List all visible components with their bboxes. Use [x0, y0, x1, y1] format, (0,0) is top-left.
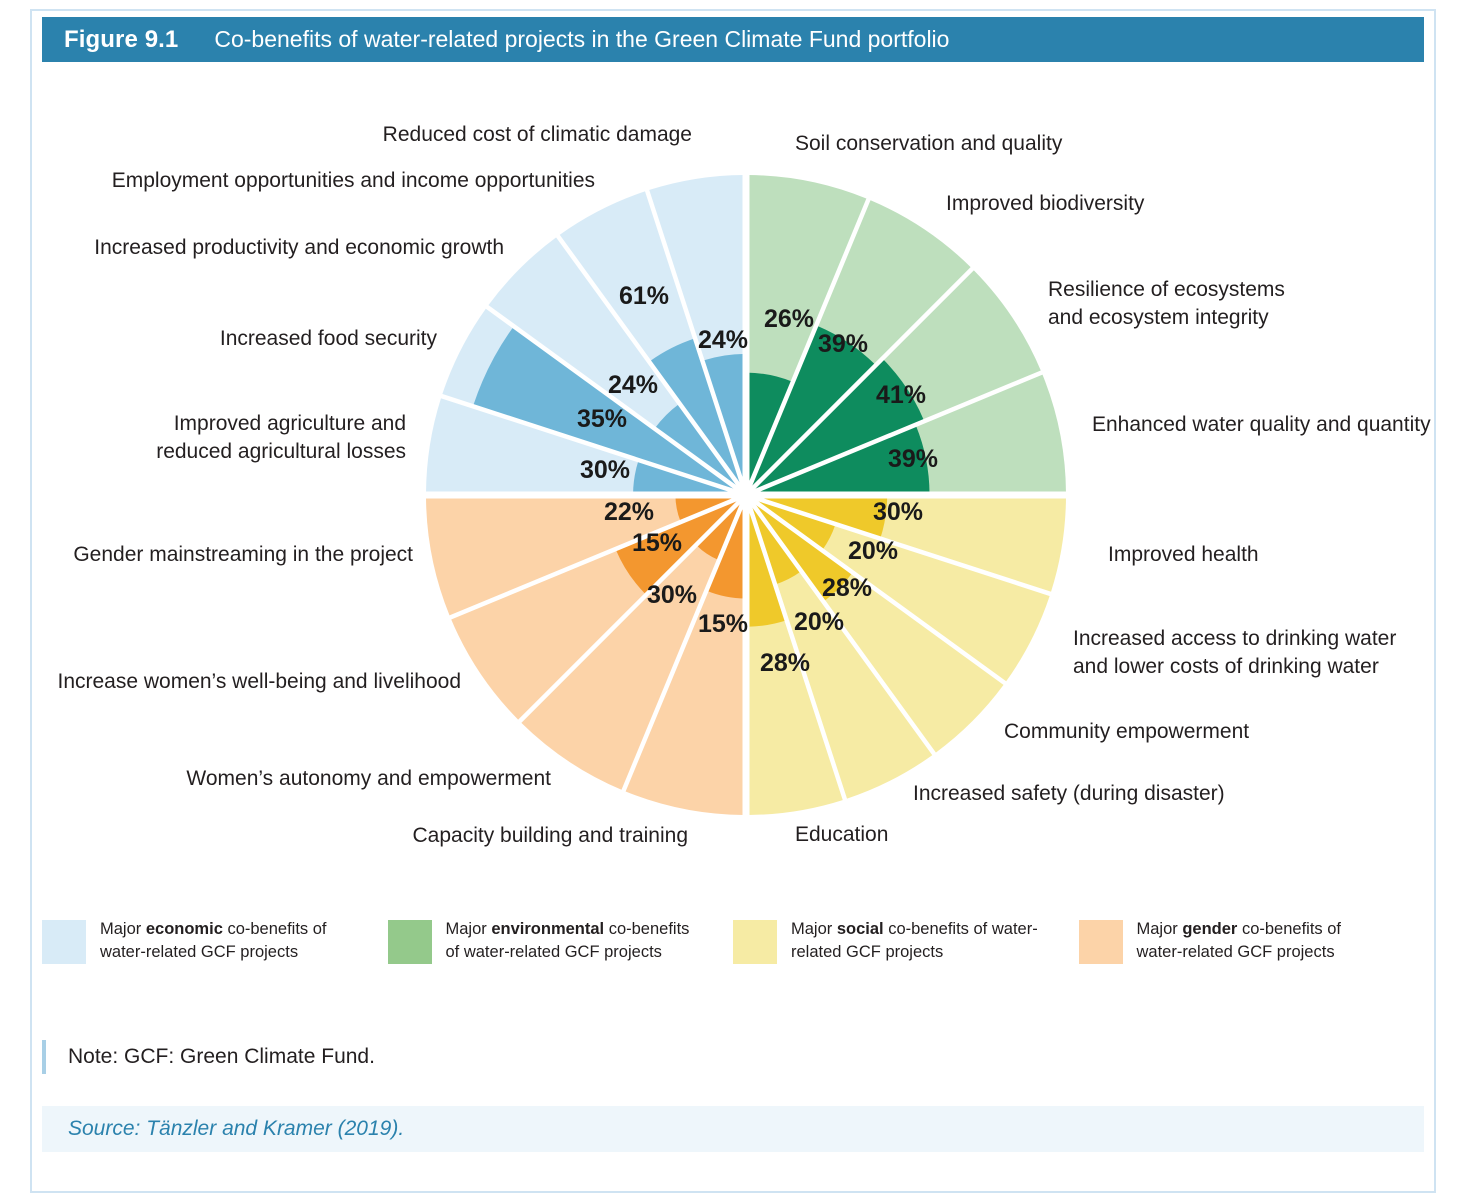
legend-item-economic: Major economic co-benefits of water-rela… — [42, 918, 388, 992]
value-label-soc-v-3: 20% — [794, 608, 844, 636]
category-label-increased-safety: Increased safety (during disaster) — [913, 782, 1225, 805]
category-label-line: Education — [795, 823, 888, 846]
value-label-econ-v-2: 24% — [608, 371, 658, 399]
legend-item-environmental: Major environmental co-benefits of water… — [388, 918, 734, 992]
category-label-line: Reduced cost of climatic damage — [383, 123, 692, 146]
source-text: Source: Tänzler and Kramer (2019). — [68, 1117, 404, 1141]
legend-swatch-gender — [1079, 920, 1123, 964]
category-label-capacity-building: Capacity building and training — [412, 824, 688, 847]
value-label-gen-v-2: 30% — [647, 581, 697, 609]
legend-swatch-economic — [42, 920, 86, 964]
value-label-econ-v-1: 61% — [619, 282, 669, 310]
legend-label-environmental: Major environmental co-benefits of water… — [446, 918, 696, 965]
value-label-soc-v-4: 28% — [760, 649, 810, 677]
category-label-line: Improved biodiversity — [946, 192, 1145, 215]
category-label-improved-biodiversity: Improved biodiversity — [946, 192, 1145, 215]
category-label-line: Soil conservation and quality — [795, 132, 1063, 155]
figure-title-bar: Figure 9.1 Co-benefits of water-related … — [42, 17, 1424, 62]
category-label-line: reduced agricultural losses — [156, 440, 406, 463]
legend-swatch-environmental — [388, 920, 432, 964]
category-label-resilience-ecosystems: Resilience of ecosystemsand ecosystem in… — [1048, 278, 1285, 329]
category-label-line: Resilience of ecosystems — [1048, 278, 1285, 301]
category-label-community-empowerment: Community empowerment — [1004, 720, 1249, 743]
value-label-soc-v-1: 20% — [848, 537, 898, 565]
value-label-env-v-1: 39% — [818, 330, 868, 358]
legend-item-gender: Major gender co-benefits of water-relate… — [1079, 918, 1425, 992]
category-label-line: and lower costs of drinking water — [1073, 655, 1379, 678]
category-label-line: Improved health — [1108, 543, 1259, 566]
category-label-improved-agriculture: Improved agriculture andreduced agricult… — [156, 412, 406, 463]
category-label-increased-access-drinking-water: Increased access to drinking waterand lo… — [1073, 627, 1396, 678]
value-label-econ-v-4: 30% — [580, 456, 630, 484]
legend-label-social: Major social co-benefits of water-relate… — [791, 918, 1041, 965]
category-label-increased-productivity-economic-growth: Increased productivity and economic grow… — [94, 236, 504, 259]
value-label-gen-v-0: 22% — [604, 498, 654, 526]
category-label-gender-mainstreaming: Gender mainstreaming in the project — [73, 543, 413, 566]
legend-label-economic: Major economic co-benefits of water-rela… — [100, 918, 350, 965]
source-row: Source: Tänzler and Kramer (2019). — [42, 1106, 1424, 1152]
category-label-line: Increased safety (during disaster) — [913, 782, 1225, 805]
category-label-increased-food-security: Increased food security — [220, 327, 438, 350]
category-label-employment-income-opportunities: Employment opportunities and income oppo… — [112, 169, 595, 192]
note-accent-bar — [42, 1040, 46, 1074]
legend-item-social: Major social co-benefits of water-relate… — [733, 918, 1079, 992]
category-label-line: Enhanced water quality and quantity — [1092, 413, 1431, 436]
category-label-line: Community empowerment — [1004, 720, 1249, 743]
value-label-env-v-0: 26% — [764, 305, 814, 333]
rose-chart: Reduced cost of climatic damageEmploymen… — [0, 70, 1466, 880]
category-label-line: Employment opportunities and income oppo… — [112, 169, 595, 192]
category-label-line: and ecosystem integrity — [1048, 306, 1269, 329]
category-label-reduced-cost-climatic-damage: Reduced cost of climatic damage — [383, 123, 692, 146]
category-label-line: Increased productivity and economic grow… — [94, 236, 504, 259]
note-text: Note: GCF: Green Climate Fund. — [68, 1045, 375, 1069]
category-label-improved-health: Improved health — [1108, 543, 1259, 566]
category-label-soil-conservation: Soil conservation and quality — [795, 132, 1063, 155]
category-label-line: Capacity building and training — [412, 824, 688, 847]
category-label-line: Increase women’s well-being and liveliho… — [57, 670, 461, 693]
category-label-womens-autonomy: Women’s autonomy and empowerment — [186, 767, 551, 790]
legend-swatch-social — [733, 920, 777, 964]
category-label-enhanced-water-quality: Enhanced water quality and quantity — [1092, 413, 1431, 436]
value-label-env-v-2: 41% — [876, 381, 926, 409]
value-label-econ-v-3: 35% — [577, 405, 627, 433]
legend-label-gender: Major gender co-benefits of water-relate… — [1137, 918, 1387, 965]
rose-chart-svg: Reduced cost of climatic damageEmploymen… — [0, 70, 1466, 880]
value-label-gen-v-1: 15% — [632, 529, 682, 557]
legend: Major economic co-benefits of water-rela… — [42, 918, 1424, 992]
category-label-line: Increased access to drinking water — [1073, 627, 1396, 650]
value-label-soc-v-0: 30% — [873, 498, 923, 526]
category-label-line: Improved agriculture and — [174, 412, 406, 435]
category-label-line: Women’s autonomy and empowerment — [186, 767, 551, 790]
value-label-gen-v-3: 15% — [698, 610, 748, 638]
category-label-increase-womens-wellbeing: Increase women’s well-being and liveliho… — [57, 670, 461, 693]
category-label-education: Education — [795, 823, 888, 846]
note-row: Note: GCF: Green Climate Fund. — [42, 1040, 1424, 1074]
value-label-econ-v-0: 24% — [698, 326, 748, 354]
figure-caption: Co-benefits of water-related projects in… — [214, 26, 949, 53]
value-label-env-v-3: 39% — [888, 445, 938, 473]
category-label-line: Increased food security — [220, 327, 438, 350]
category-label-line: Gender mainstreaming in the project — [73, 543, 413, 566]
figure-number: Figure 9.1 — [64, 26, 178, 54]
value-label-soc-v-2: 28% — [822, 574, 872, 602]
